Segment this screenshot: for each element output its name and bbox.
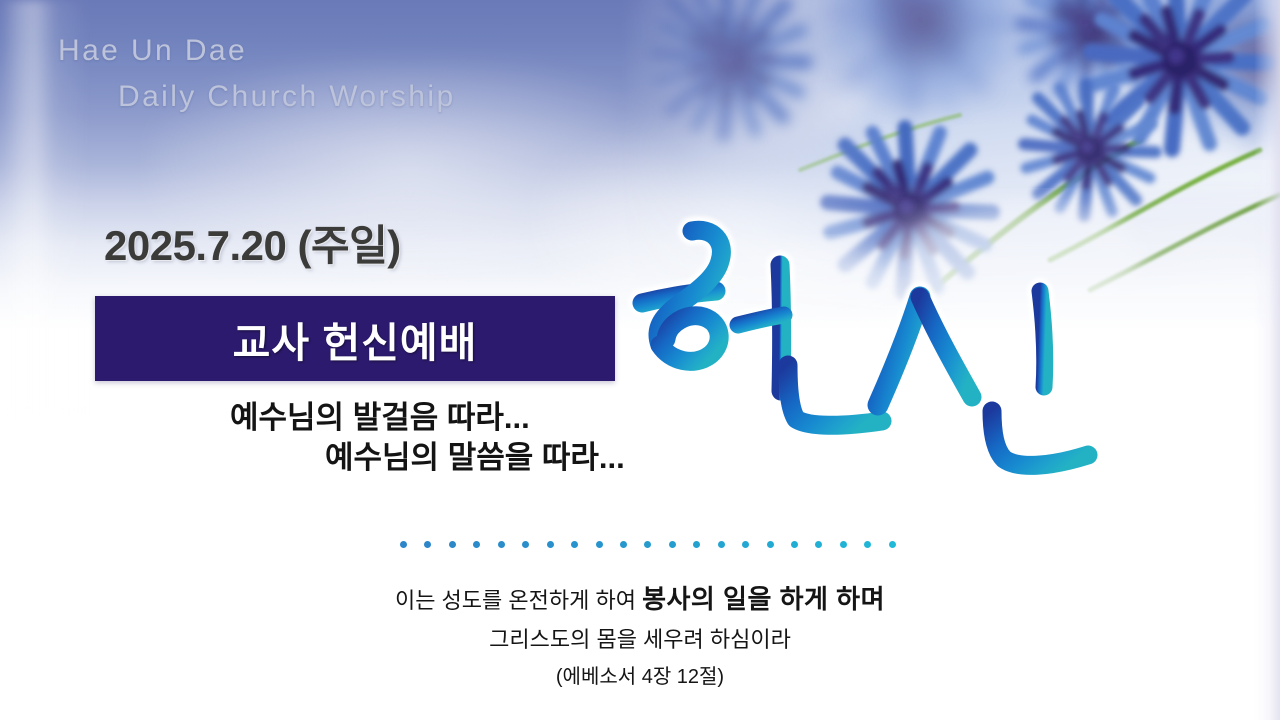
divider-dot (620, 541, 627, 548)
service-title-text: 교사 헌신예배 (233, 309, 478, 369)
service-date: 2025.7.20 (주일) (104, 212, 401, 273)
divider-dot (547, 541, 554, 548)
divider-dot (644, 541, 651, 548)
divider-dot (473, 541, 480, 548)
divider-dot (522, 541, 529, 548)
background-right-edge-tint (1254, 0, 1280, 720)
divider-dot (864, 541, 871, 548)
divider-dot (596, 541, 603, 548)
divider-dot (571, 541, 578, 548)
divider-dot (889, 541, 896, 548)
divider-dot (693, 541, 700, 548)
divider-dot (791, 541, 798, 548)
background-left-light-streak (0, 0, 90, 420)
divider-dot (498, 541, 505, 548)
divider-dot (669, 541, 676, 548)
dotted-divider (400, 538, 896, 550)
worship-slide: Hae Un Dae Daily Church Worship 2025.7.2… (0, 0, 1280, 720)
divider-dot (767, 541, 774, 548)
cornflower-photo (620, 0, 1280, 345)
divider-dot (742, 541, 749, 548)
divider-dot (840, 541, 847, 548)
divider-dot (815, 541, 822, 548)
divider-dot (400, 541, 407, 548)
service-title-banner: 교사 헌신예배 (95, 296, 615, 381)
divider-dot (718, 541, 725, 548)
divider-dot (449, 541, 456, 548)
divider-dot (424, 541, 431, 548)
